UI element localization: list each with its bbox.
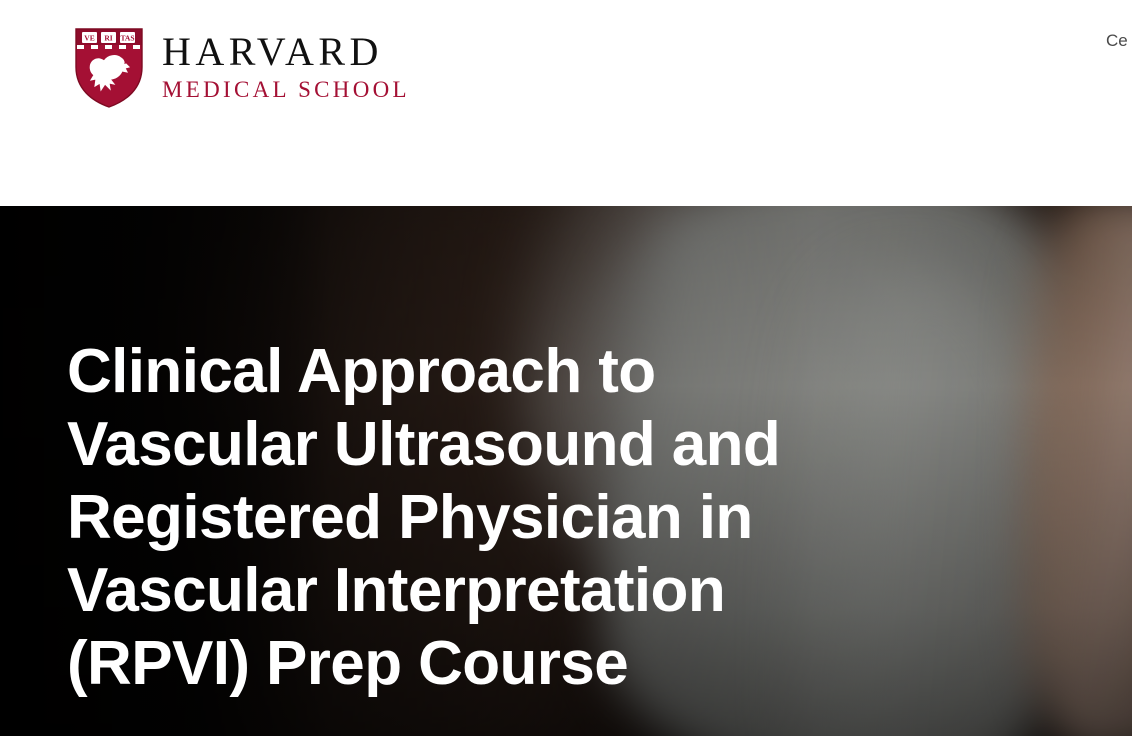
hero-title-line-4: Vascular Interpretation — [67, 554, 827, 627]
hero-title-line-3: Registered Physician in — [67, 481, 827, 554]
svg-text:RI: RI — [104, 33, 112, 42]
hero-title-line-5: (RPVI) Prep Course — [67, 627, 827, 700]
hero-banner: Clinical Approach to Vascular Ultrasound… — [0, 206, 1132, 736]
harvard-veritas-shield-icon: VE RI TAS — [74, 27, 144, 109]
wordmark-harvard: HARVARD — [162, 30, 410, 74]
nav-item-certificate[interactable]: Ce — [1106, 31, 1128, 50]
svg-text:VE: VE — [84, 33, 94, 42]
svg-text:TAS: TAS — [120, 33, 134, 42]
harvard-wordmark: HARVARD MEDICAL SCHOOL — [162, 27, 410, 103]
harvard-medical-school-logo[interactable]: VE RI TAS HARVARD MEDICAL SCH — [74, 27, 410, 109]
site-header: VE RI TAS HARVARD MEDICAL SCH — [0, 0, 1132, 206]
hero-title-line-1: Clinical Approach to — [67, 335, 827, 408]
hero-title: Clinical Approach to Vascular Ultrasound… — [67, 335, 827, 700]
hero-title-line-2: Vascular Ultrasound and — [67, 408, 827, 481]
page-root: VE RI TAS HARVARD MEDICAL SCH — [0, 0, 1132, 736]
wordmark-medical-school: MEDICAL SCHOOL — [162, 77, 410, 103]
hero-content: Clinical Approach to Vascular Ultrasound… — [67, 335, 827, 700]
header-nav: Ce — [1106, 30, 1132, 52]
